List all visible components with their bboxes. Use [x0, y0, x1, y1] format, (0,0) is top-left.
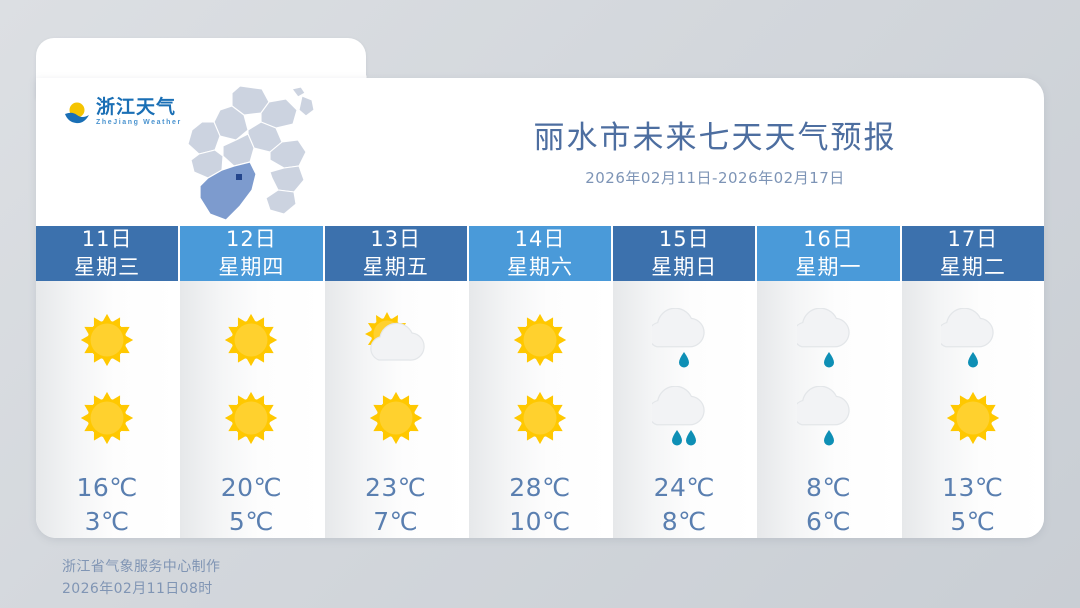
forecast-day-column[interactable]: 17日 星期二 13℃ 5℃ [900, 226, 1044, 538]
forecast-card: 浙江天气 ZheJiang Weather [36, 38, 1044, 538]
day-weekday: 星期日 [651, 253, 717, 281]
temp-high: 28℃ [509, 471, 570, 505]
sun-wave-logo-icon [64, 100, 90, 126]
day-header: 14日 星期六 [469, 226, 611, 281]
card-body: 浙江天气 ZheJiang Weather [36, 78, 1044, 538]
temp-low: 8℃ [654, 505, 715, 538]
footer-producer: 浙江省气象服务中心制作 [62, 556, 220, 578]
day-date: 17日 [947, 226, 998, 253]
temp-high: 8℃ [806, 471, 851, 505]
zhejiang-province-map [166, 82, 326, 226]
day-body: 23℃ 7℃ [325, 281, 467, 538]
temperature-range: 24℃ 8℃ [654, 471, 715, 538]
day-date: 16日 [803, 226, 854, 253]
temp-high: 13℃ [942, 471, 1003, 505]
temp-high: 16℃ [76, 471, 137, 505]
footer-issued-time: 2026年02月11日08时 [62, 578, 220, 600]
capital-marker-icon [236, 174, 242, 180]
day-header: 15日 星期日 [613, 226, 755, 281]
forecast-day-column[interactable]: 13日 星期五 23℃ 7℃ [323, 226, 467, 538]
day-date: 15日 [659, 226, 710, 253]
light-rain-icon [652, 303, 716, 377]
day-weekday: 星期六 [507, 253, 573, 281]
temp-high: 20℃ [221, 471, 282, 505]
day-date: 11日 [82, 226, 133, 253]
day-date: 12日 [226, 226, 277, 253]
temp-low: 6℃ [806, 505, 851, 538]
sunny-icon [365, 381, 427, 455]
day-body: 20℃ 5℃ [180, 281, 322, 538]
date-range: 2026年02月11日-2026年02月17日 [585, 167, 845, 188]
temperature-range: 16℃ 3℃ [76, 471, 137, 538]
temperature-range: 20℃ 5℃ [221, 471, 282, 538]
partly-cloudy-icon [361, 303, 431, 377]
day-body: 24℃ 8℃ [613, 281, 755, 538]
footer: 浙江省气象服务中心制作 2026年02月11日08时 [62, 556, 220, 600]
sunny-icon [76, 303, 138, 377]
forecast-grid: 11日 星期三 16℃ 3℃ 12日 星期四 20℃ 5℃ [36, 226, 1044, 538]
forecast-day-column[interactable]: 16日 星期一 8℃ 6℃ [755, 226, 899, 538]
temp-low: 10℃ [509, 505, 570, 538]
sunny-icon [76, 381, 138, 455]
sunny-icon [220, 303, 282, 377]
day-header: 12日 星期四 [180, 226, 322, 281]
sunny-icon [942, 381, 1004, 455]
sunny-icon [509, 303, 571, 377]
day-body: 28℃ 10℃ [469, 281, 611, 538]
forecast-day-column[interactable]: 11日 星期三 16℃ 3℃ [36, 226, 178, 538]
day-header: 16日 星期一 [757, 226, 899, 281]
forecast-day-column[interactable]: 14日 星期六 28℃ 10℃ [467, 226, 611, 538]
sunny-icon [509, 381, 571, 455]
temp-low: 5℃ [942, 505, 1003, 538]
light-rain-icon [941, 303, 1005, 377]
temperature-range: 13℃ 5℃ [942, 471, 1003, 538]
day-date: 13日 [370, 226, 421, 253]
day-header: 13日 星期五 [325, 226, 467, 281]
sunny-icon [220, 381, 282, 455]
temp-high: 24℃ [654, 471, 715, 505]
day-date: 14日 [515, 226, 566, 253]
moderate-rain-icon [652, 381, 716, 455]
forecast-day-column[interactable]: 15日 星期日 24℃ 8℃ [611, 226, 755, 538]
forecast-day-column[interactable]: 12日 星期四 20℃ 5℃ [178, 226, 322, 538]
day-weekday: 星期二 [940, 253, 1006, 281]
temp-high: 23℃ [365, 471, 426, 505]
temp-low: 3℃ [76, 505, 137, 538]
light-rain-icon [797, 381, 861, 455]
temp-low: 5℃ [221, 505, 282, 538]
day-weekday: 星期五 [363, 253, 429, 281]
day-weekday: 星期四 [218, 253, 284, 281]
temp-low: 7℃ [365, 505, 426, 538]
day-header: 17日 星期二 [902, 226, 1044, 281]
day-body: 13℃ 5℃ [902, 281, 1044, 538]
temperature-range: 28℃ 10℃ [509, 471, 570, 538]
temperature-range: 8℃ 6℃ [806, 471, 851, 538]
page-title: 丽水市未来七天天气预报 [534, 117, 897, 159]
day-body: 8℃ 6℃ [757, 281, 899, 538]
temperature-range: 23℃ 7℃ [365, 471, 426, 538]
day-weekday: 星期一 [796, 253, 862, 281]
day-weekday: 星期三 [74, 253, 140, 281]
day-header: 11日 星期三 [36, 226, 178, 281]
day-body: 16℃ 3℃ [36, 281, 178, 538]
light-rain-icon [797, 303, 861, 377]
card-header: 浙江天气 ZheJiang Weather [36, 78, 1044, 226]
